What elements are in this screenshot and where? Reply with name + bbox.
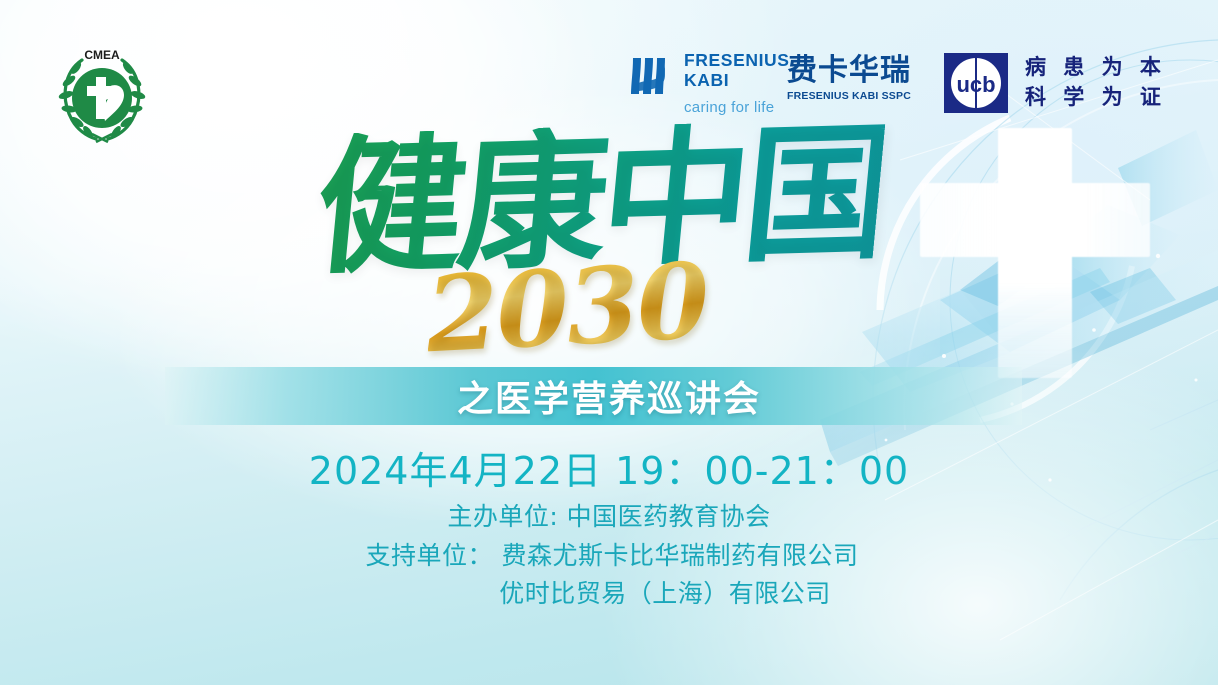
fresenius-kabi-logo: FRESENIUS KABI caring for life [628, 52, 790, 115]
host-line: 主办单位: 中国医药教育协会 [0, 498, 1218, 537]
sspc-english-name: FRESENIUS KABI SSPC [787, 90, 911, 102]
medical-cross-icon [920, 128, 1150, 378]
ucb-logo: ucb 病 患 为 本 科 学 为 证 [943, 52, 1166, 114]
support-line-1: 支持单位： 费森尤斯卡比华瑞制药有限公司 [0, 537, 1218, 576]
fresenius-name-line1: FRESENIUS [684, 52, 790, 70]
cmea-logo: CMEA [52, 46, 152, 144]
year-2030: 2030 [423, 239, 711, 377]
fresenius-name-line2: KABI [684, 72, 790, 90]
ucb-wordmark: ucb [956, 72, 995, 97]
main-title-group: 健康中国 2030 [318, 126, 878, 366]
fresenius-wave-icon [628, 54, 674, 98]
ucb-slogan-line2: 科 学 为 证 [1025, 83, 1166, 113]
ucb-mark-icon: ucb [943, 52, 1009, 114]
ucb-slogan-line1: 病 患 为 本 [1025, 53, 1166, 83]
fresenius-kabi-sspc-logo: 费卡华瑞 FRESENIUS KABI SSPC [787, 56, 911, 102]
organiser-block: 主办单位: 中国医药教育协会 支持单位： 费森尤斯卡比华瑞制药有限公司 优时比贸… [0, 498, 1218, 614]
ribbon-bars [820, 250, 1218, 466]
support-line-2: 优时比贸易（上海）有限公司 [0, 575, 1218, 614]
event-datetime: 2024年4月22日 19：00-21：00 [0, 440, 1218, 495]
crystal-facets [862, 130, 1218, 392]
cmea-acronym: CMEA [84, 48, 120, 62]
event-poster: CMEA [0, 0, 1218, 685]
sspc-chinese-name: 费卡华瑞 [787, 56, 911, 86]
subtitle-text: 之医学营养巡讲会 [0, 366, 1218, 426]
